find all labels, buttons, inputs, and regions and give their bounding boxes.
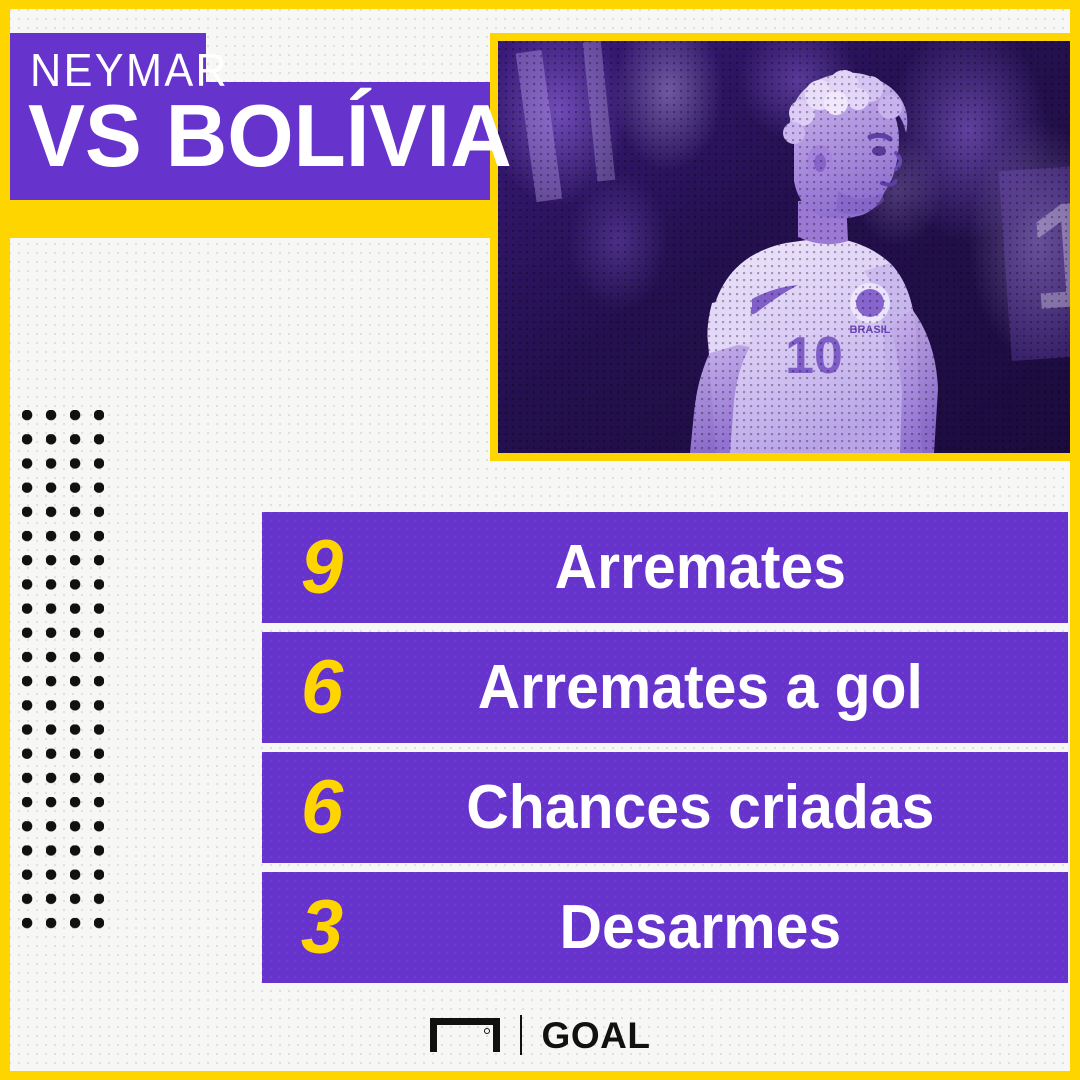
player-photo-frame: 1 <box>490 33 1080 461</box>
footer-divider <box>520 1015 522 1055</box>
stat-label: Desarmes <box>399 897 1051 959</box>
registered-mark-icon <box>484 1028 490 1034</box>
table-row: 9 Arremates <box>262 512 1068 623</box>
stat-label: Chances criadas <box>399 777 1051 839</box>
page-title: VS BOLÍVIA <box>28 92 512 180</box>
stat-label: Arremates <box>399 537 1051 599</box>
frame-border-right <box>1070 0 1080 1080</box>
goalpost-icon <box>430 1018 500 1052</box>
stats-list: 9 Arremates 6 Arremates a gol 6 Chances … <box>262 512 1068 983</box>
stat-value: 6 <box>262 650 382 726</box>
footer-branding: GOAL <box>0 1004 1080 1066</box>
frame-border-bottom <box>0 1071 1080 1080</box>
frame-border-left <box>0 0 10 1080</box>
decorative-dot-grid <box>22 410 104 942</box>
photo-halftone-overlay <box>498 41 1072 453</box>
player-photo: 1 <box>498 41 1072 453</box>
infographic-canvas: 1 <box>0 0 1080 1080</box>
frame-border-top <box>0 0 1080 9</box>
brand-name: GOAL <box>542 1017 651 1054</box>
table-row: 6 Arremates a gol <box>262 632 1068 743</box>
stat-value: 3 <box>262 890 382 966</box>
table-row: 6 Chances criadas <box>262 752 1068 863</box>
stat-value: 9 <box>262 530 382 606</box>
stat-label: Arremates a gol <box>399 657 1051 719</box>
stat-value: 6 <box>262 770 382 846</box>
table-row: 3 Desarmes <box>262 872 1068 983</box>
